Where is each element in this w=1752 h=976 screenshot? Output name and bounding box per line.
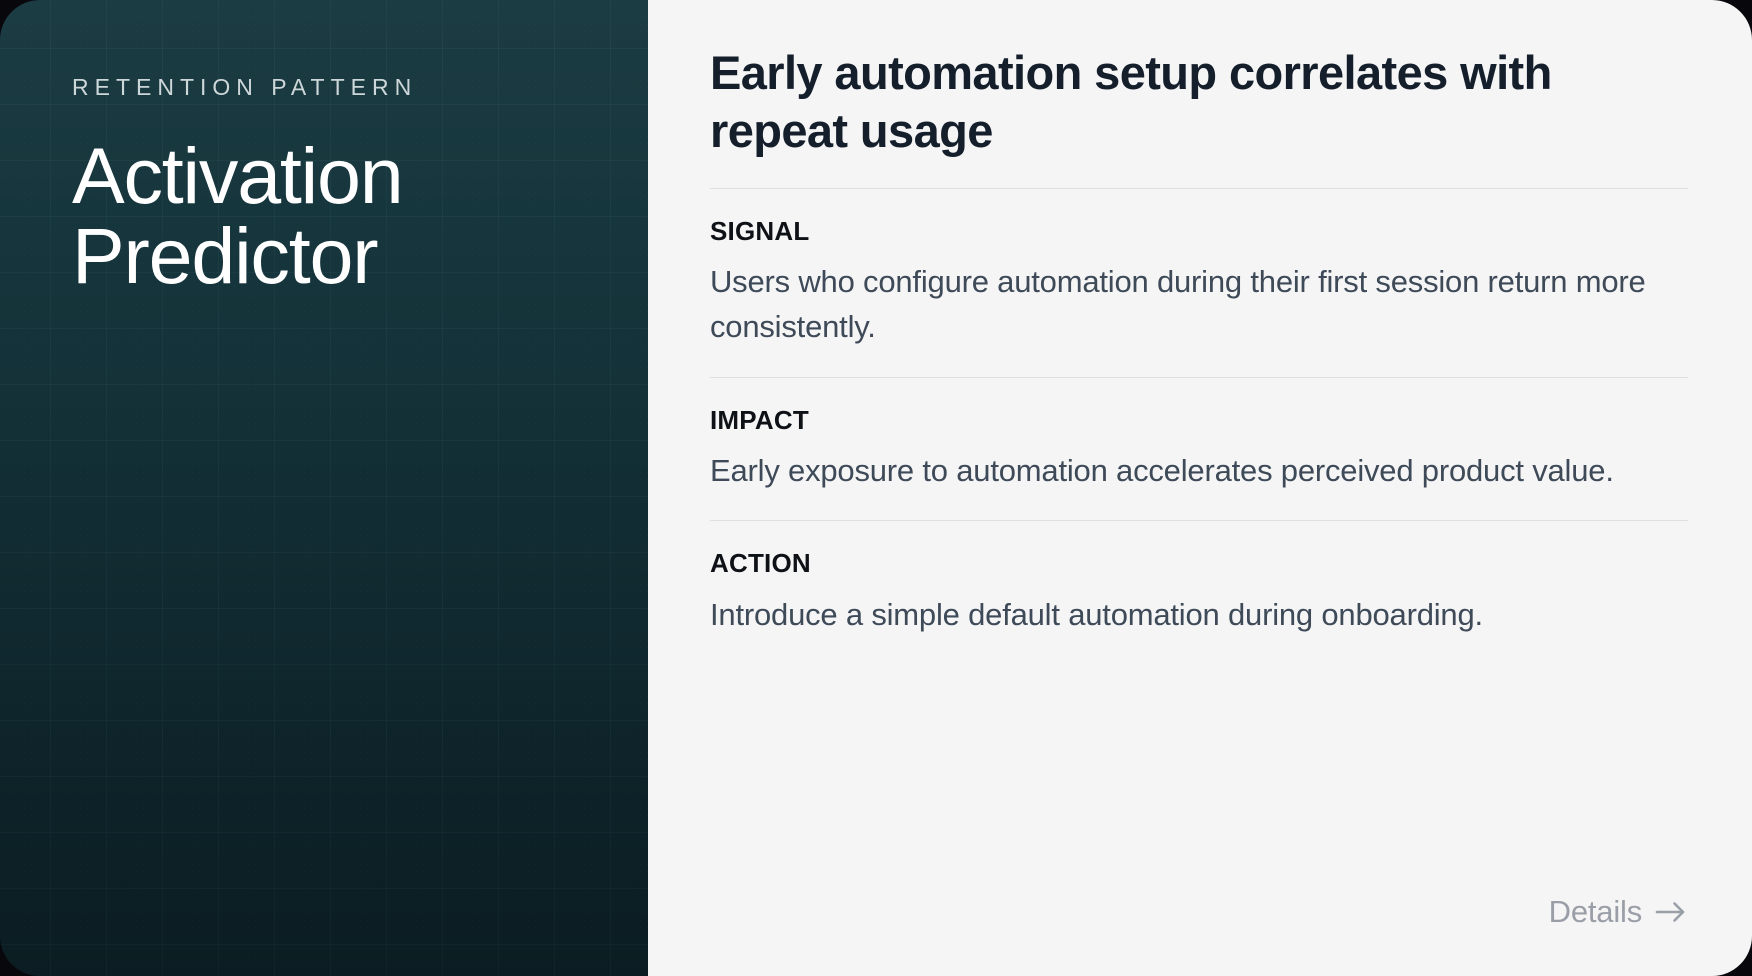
section-action: ACTION Introduce a simple default automa…	[710, 521, 1688, 664]
category-eyebrow: RETENTION PATTERN	[72, 74, 600, 102]
section-label-action: ACTION	[710, 547, 1688, 580]
section-body-action: Introduce a simple default automation du…	[710, 592, 1688, 637]
section-label-impact: IMPACT	[710, 404, 1688, 437]
insight-headline: Early automation setup correlates with r…	[710, 44, 1688, 160]
arrow-right-icon	[1654, 897, 1688, 927]
left-hero-panel: RETENTION PATTERN Activation Predictor	[0, 0, 648, 976]
section-body-impact: Early exposure to automation accelerates…	[710, 448, 1688, 493]
page-title-line-2: Predictor	[72, 211, 377, 300]
details-link[interactable]: Details	[1549, 894, 1688, 930]
details-link-label: Details	[1549, 894, 1642, 930]
insight-card: RETENTION PATTERN Activation Predictor E…	[0, 0, 1752, 976]
right-detail-panel: Early automation setup correlates with r…	[648, 0, 1752, 976]
card-footer: Details	[710, 894, 1688, 976]
left-panel-content: RETENTION PATTERN Activation Predictor	[72, 74, 600, 297]
section-label-signal: SIGNAL	[710, 215, 1688, 248]
page-title: Activation Predictor	[72, 136, 600, 297]
section-body-signal: Users who configure automation during th…	[710, 259, 1688, 350]
page-title-line-1: Activation	[72, 131, 403, 220]
section-impact: IMPACT Early exposure to automation acce…	[710, 378, 1688, 521]
section-signal: SIGNAL Users who configure automation du…	[710, 189, 1688, 377]
